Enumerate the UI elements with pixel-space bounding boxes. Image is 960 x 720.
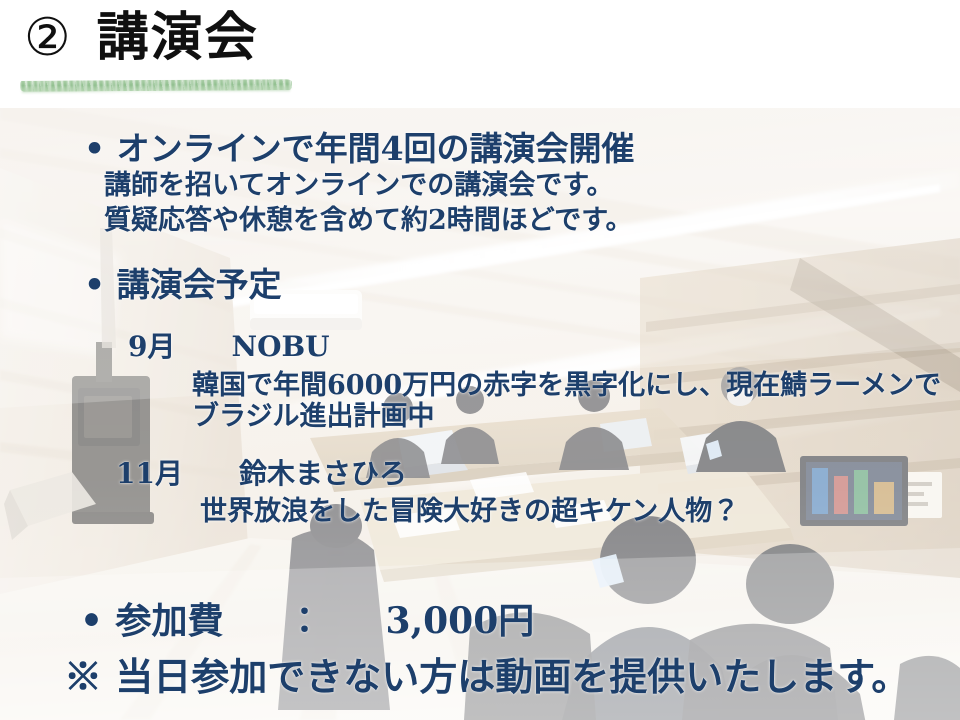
bullet-1-subline-1: 講師を招いてオンラインでの講演会です。 [104,163,614,202]
presentation-slide: ② 講演会 • オンラインで年間4回の講演会開催 講師を招いてオンラインでの講演… [0,0,960,720]
title-band: ② 講演会 [0,0,960,108]
bullet-1-subline-2: 質疑応答や休憩を含めて約2時間ほどです。 [104,198,633,237]
footnote: ※ 当日参加できない方は動画を提供いたします。 [64,646,909,701]
page-title: ② 講演会 [24,12,259,64]
schedule-item-1-desc-2: ブラジル進出計画中 [192,394,434,433]
title-underline-brush [20,79,292,92]
title-label: 講演会 [97,12,259,64]
schedule-item-2-desc-1: 世界放浪をした冒険大好きの超キケン人物？ [200,489,739,528]
slide-content: • オンラインで年間4回の講演会開催 講師を招いてオンラインでの講演会です。 質… [0,0,960,720]
bullet-2-text: 講演会予定 [117,265,282,304]
fee-line: • 参加費 ： 3,000円 [80,592,534,644]
bullet-1-marker: • [84,129,105,168]
bullet-2-heading: • 講演会予定 [84,258,282,306]
title-number: ② [24,12,71,64]
schedule-item-2-header: 11月 鈴木まさひろ [116,452,407,492]
bullet-2-marker: • [84,265,105,304]
schedule-item-1-header: 9月 NOBU [128,325,330,365]
